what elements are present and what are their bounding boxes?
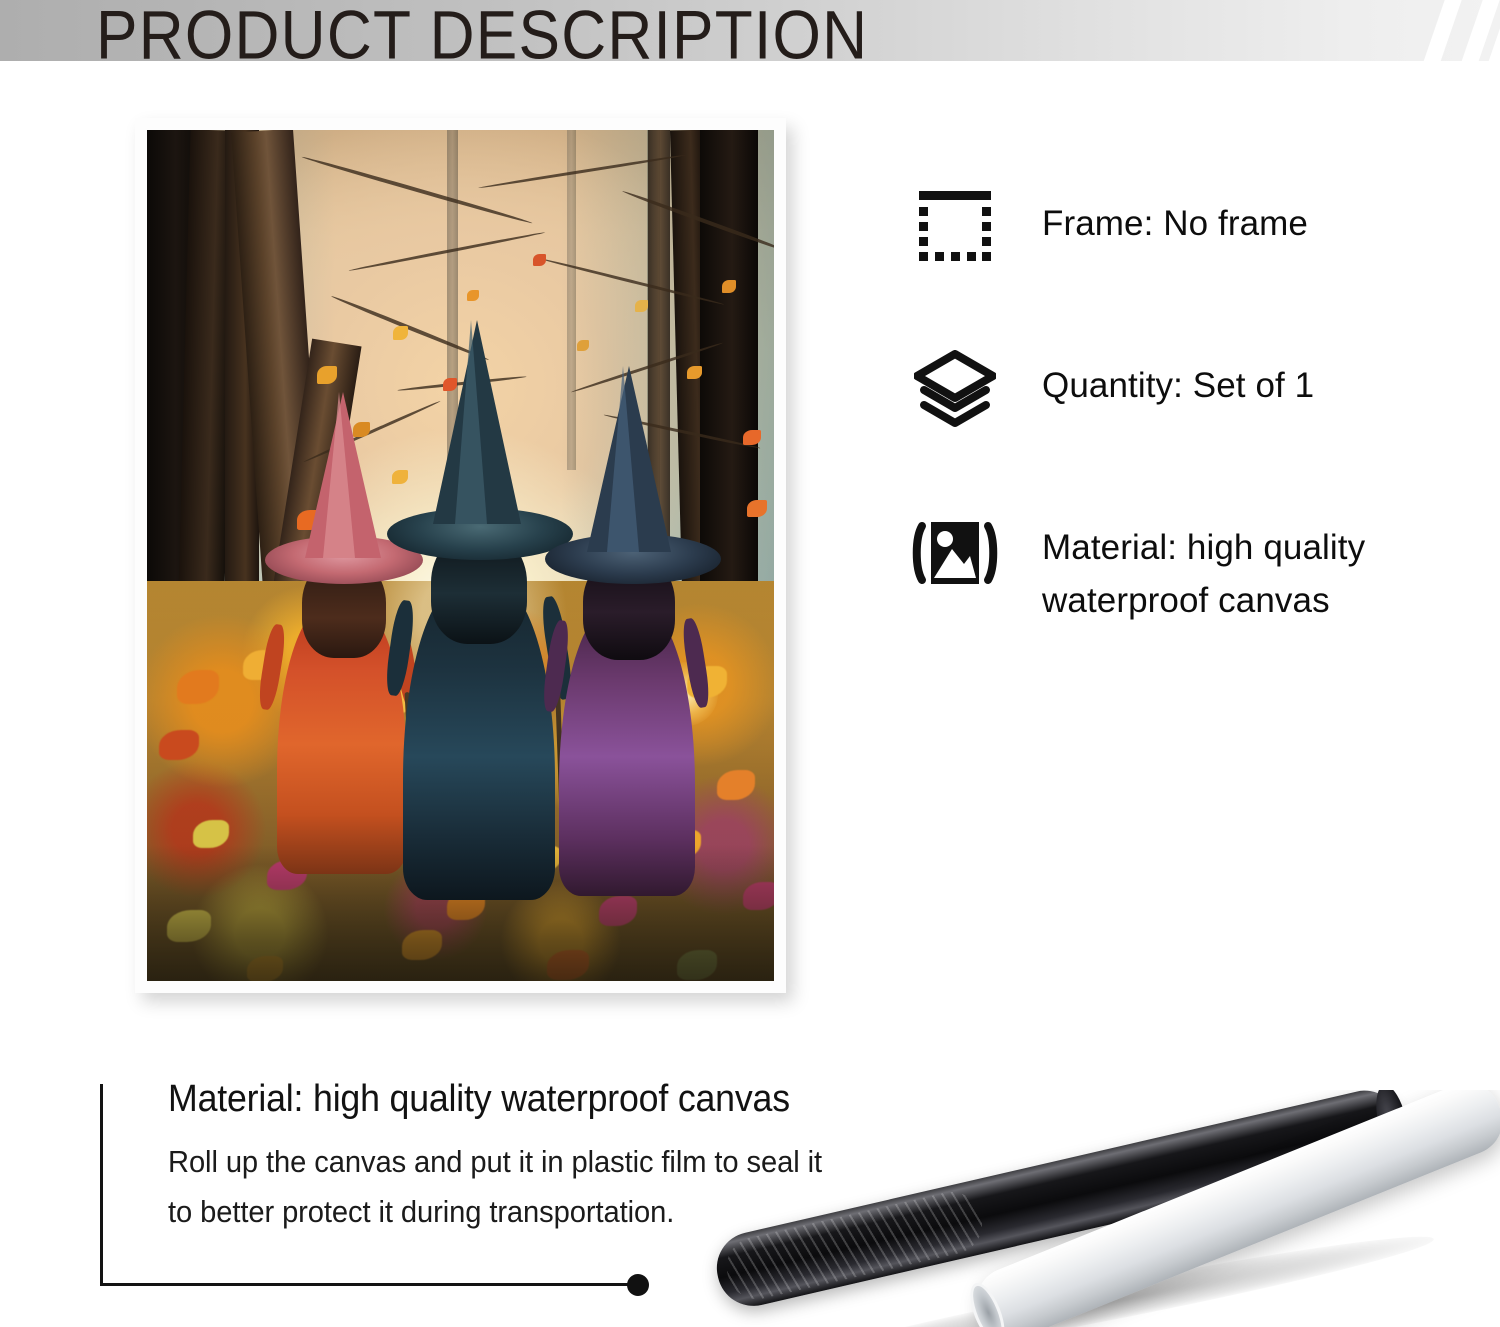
artwork-leaf [687, 366, 702, 379]
frame-icon [912, 186, 998, 272]
feature-label-material: Material: high quality waterproof canvas [1042, 510, 1442, 627]
artwork-leaf [393, 326, 408, 340]
page-title: PRODUCT DESCRIPTION [96, 0, 868, 71]
feature-label-frame: Frame: No frame [1042, 186, 1308, 250]
note-end-dot [627, 1274, 649, 1296]
artwork-tree-trunk [567, 130, 576, 470]
artwork-witch-hat-highlight [323, 392, 355, 558]
tube-texture [721, 1186, 988, 1305]
artwork-leaf [743, 430, 761, 445]
packaging-tubes-image [690, 1090, 1500, 1327]
feature-row-material: Material: high quality waterproof canvas [912, 510, 1472, 627]
artwork-leaf [722, 280, 736, 293]
artwork-leaf [635, 300, 648, 312]
artwork-witch-hat-highlight [607, 366, 639, 552]
product-canvas-frame [135, 118, 786, 993]
feature-row-quantity: Quantity: Set of 1 [912, 348, 1472, 434]
artwork-witch-hat-highlight [455, 320, 487, 524]
feature-row-frame: Frame: No frame [912, 186, 1472, 272]
artwork-leaf [317, 366, 337, 384]
product-artwork-image [147, 130, 774, 981]
product-feature-list: Frame: No frame Quantity: Set of 1 Mater… [912, 186, 1472, 703]
feature-label-quantity: Quantity: Set of 1 [1042, 348, 1314, 412]
artwork-leaf [577, 340, 589, 351]
artwork-leaf [467, 290, 479, 301]
image-icon [912, 510, 998, 596]
header-slash-icon [1416, 0, 1466, 66]
layers-icon [912, 348, 998, 434]
artwork-leaf [533, 254, 546, 266]
artwork-leaf [392, 470, 408, 484]
artwork-leaf [747, 500, 767, 517]
